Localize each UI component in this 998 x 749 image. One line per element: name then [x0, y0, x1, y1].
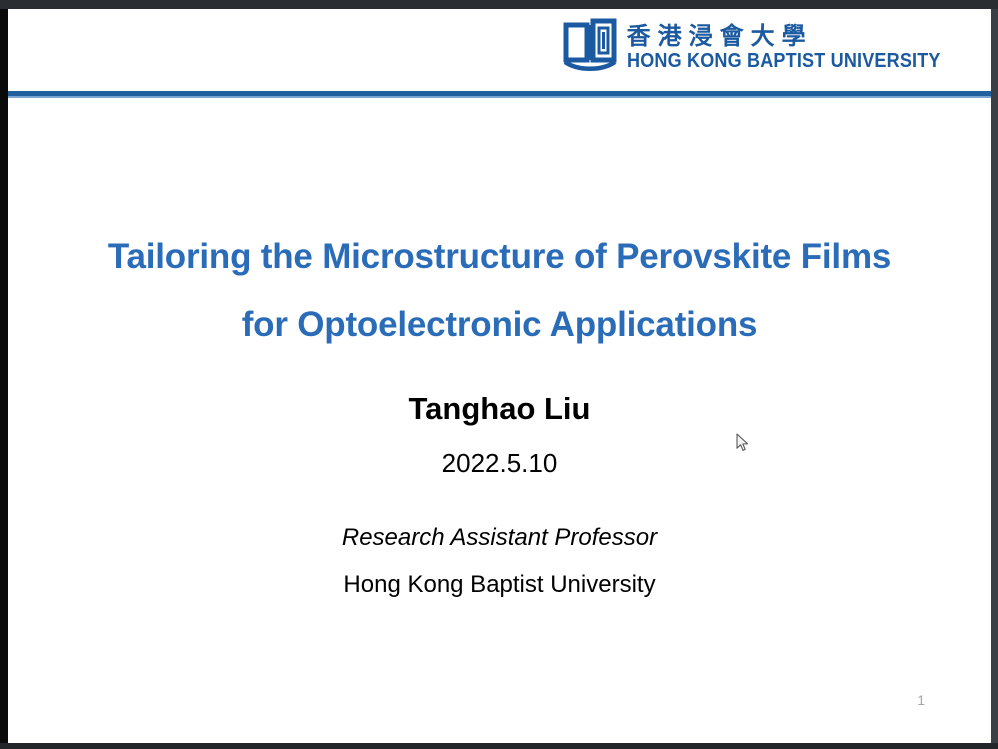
- page-title-line-1: Tailoring the Microstructure of Perovski…: [8, 223, 991, 291]
- viewer-right-chrome: [991, 9, 998, 743]
- page-title: Tailoring the Microstructure of Perovski…: [8, 223, 991, 359]
- presentation-viewer: 香港浸會大學 HONG KONG BAPTIST UNIVERSITY Tail…: [0, 0, 998, 749]
- author-name: Tanghao Liu: [8, 393, 991, 424]
- open-book-logo-icon: [562, 17, 618, 78]
- university-name-en: HONG KONG BAPTIST UNIVERSITY: [627, 50, 941, 73]
- university-logo: 香港浸會大學 HONG KONG BAPTIST UNIVERSITY: [562, 17, 983, 78]
- university-name-cn: 香港浸會大學: [627, 22, 983, 50]
- slide-body: Tailoring the Microstructure of Perovski…: [8, 98, 991, 743]
- presentation-date: 2022.5.10: [8, 450, 991, 476]
- author-organization: Hong Kong Baptist University: [8, 573, 991, 597]
- viewer-bottom-chrome: [0, 743, 998, 749]
- header-divider-rule: [8, 91, 991, 98]
- page-title-line-2: for Optoelectronic Applications: [8, 291, 991, 359]
- slide-header: 香港浸會大學 HONG KONG BAPTIST UNIVERSITY: [8, 9, 991, 85]
- viewer-left-chrome: [0, 9, 8, 743]
- viewer-top-chrome: [0, 0, 998, 9]
- author-role: Research Assistant Professor: [8, 526, 991, 550]
- slide-canvas: 香港浸會大學 HONG KONG BAPTIST UNIVERSITY Tail…: [8, 9, 991, 743]
- slide-page-number: 1: [917, 693, 925, 707]
- university-logo-wordmark: 香港浸會大學 HONG KONG BAPTIST UNIVERSITY: [627, 22, 983, 73]
